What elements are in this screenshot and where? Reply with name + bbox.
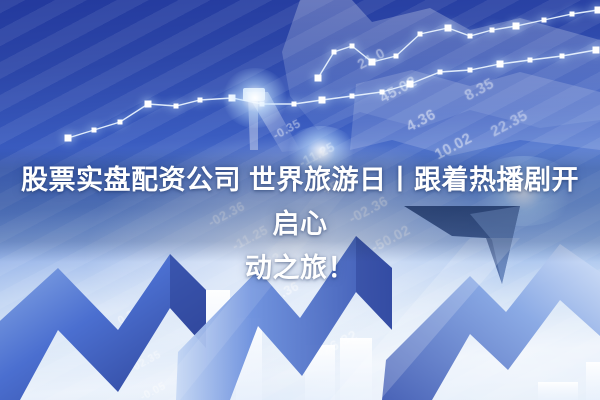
headline-line-2: 动之旅！ [245, 253, 355, 283]
headline-line-1: 股票实盘配资公司 世界旅游日丨跟着热播剧开启心 [21, 165, 579, 239]
banner-canvas: -0.05-1.25-50.02-2.361.254.261.16-50.02-… [0, 0, 600, 400]
page-title: 股票实盘配资公司 世界旅游日丨跟着热播剧开启心 动之旅！ [8, 158, 592, 290]
